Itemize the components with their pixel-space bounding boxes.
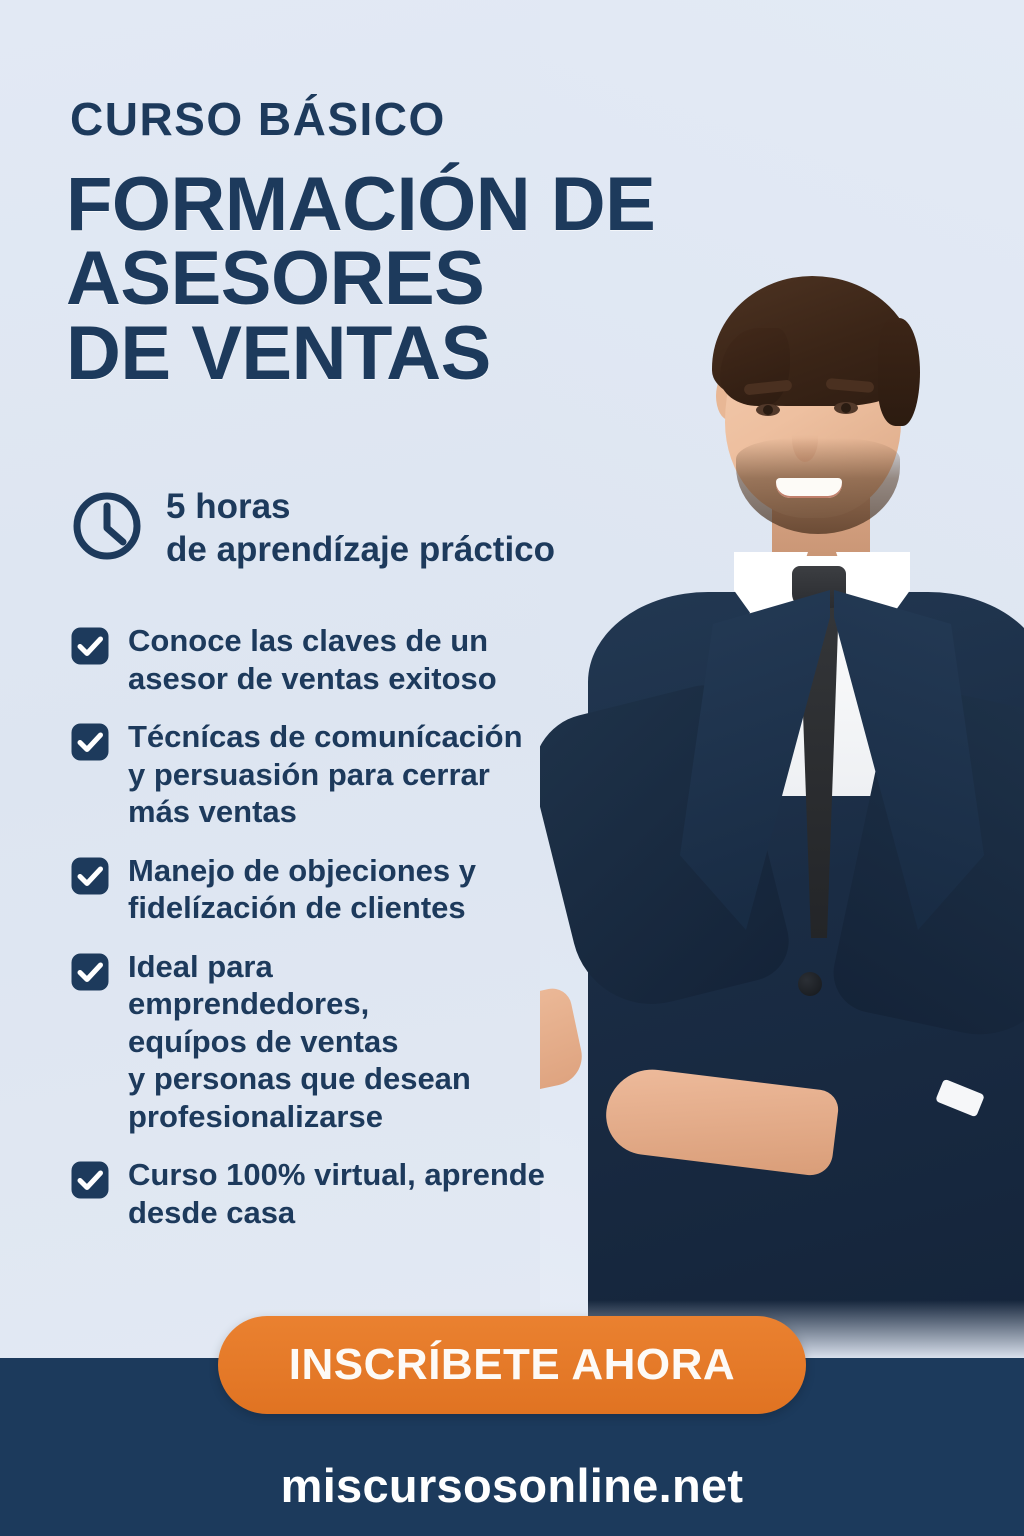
title-line-2: ASESORES (66, 242, 655, 316)
list-item: Conoce las claves de un asesor de ventas… (70, 622, 590, 697)
checkbox-checked-icon (70, 952, 110, 997)
benefit-4-line-4: y personas que desean (128, 1060, 471, 1098)
clock-icon (70, 489, 144, 568)
benefit-2-line-1: Técnícas de comunícación (128, 718, 523, 756)
page-title: FORMACIÓN DE ASESORES DE VENTAS (66, 168, 655, 391)
course-duration: 5 horas de aprendízaje práctico (70, 486, 555, 571)
list-item: Manejo de objeciones y fidelízación de c… (70, 852, 590, 927)
enroll-now-button[interactable]: INSCRÍBETE AHORA (218, 1316, 806, 1414)
benefit-2-line-3: más ventas (128, 793, 523, 831)
benefit-4-line-2: emprendedores, (128, 985, 471, 1023)
list-item: Técnícas de comunícación y persuasión pa… (70, 718, 590, 831)
benefit-3-line-2: fidelízación de clientes (128, 889, 476, 927)
checkbox-checked-icon (70, 626, 110, 671)
duration-line-1: 5 horas (166, 486, 555, 529)
title-line-3: DE VENTAS (66, 317, 655, 391)
checkbox-checked-icon (70, 722, 110, 767)
list-item-label: Técnícas de comunícación y persuasión pa… (128, 718, 523, 831)
website-url[interactable]: miscursosonline.net (0, 1458, 1024, 1513)
benefit-4-line-5: profesionalizarse (128, 1098, 471, 1136)
benefit-1-line-2: asesor de ventas exitoso (128, 660, 497, 698)
list-item-label: Conoce las claves de un asesor de ventas… (128, 622, 497, 697)
benefit-5-line-2: desde casa (128, 1194, 545, 1232)
enroll-now-label: INSCRÍBETE AHORA (289, 1340, 735, 1390)
benefit-5-line-1: Curso 100% virtual, aprende (128, 1156, 545, 1194)
list-item: Ideal para emprendedores, equípos de ven… (70, 948, 590, 1136)
course-benefits-list: Conoce las claves de un asesor de ventas… (70, 622, 590, 1252)
duration-line-2: de aprendízaje práctico (166, 529, 555, 572)
benefit-1-line-1: Conoce las claves de un (128, 622, 497, 660)
benefit-2-line-2: y persuasión para cerrar (128, 756, 523, 794)
title-line-1: FORMACIÓN DE (66, 168, 655, 242)
promo-poster: CURSO BÁSICO FORMACIÓN DE ASESORES DE VE… (0, 0, 1024, 1536)
course-level-eyebrow: CURSO BÁSICO (70, 92, 446, 146)
poster-content: CURSO BÁSICO FORMACIÓN DE ASESORES DE VE… (0, 0, 1024, 1536)
benefit-4-line-3: equípos de ventas (128, 1023, 471, 1061)
list-item-label: Ideal para emprendedores, equípos de ven… (128, 948, 471, 1136)
checkbox-checked-icon (70, 856, 110, 901)
list-item: Curso 100% virtual, aprende desde casa (70, 1156, 590, 1231)
benefit-4-line-1: Ideal para (128, 948, 471, 986)
benefit-3-line-1: Manejo de objeciones y (128, 852, 476, 890)
checkbox-checked-icon (70, 1160, 110, 1205)
duration-text: 5 horas de aprendízaje práctico (166, 486, 555, 571)
list-item-label: Manejo de objeciones y fidelízación de c… (128, 852, 476, 927)
list-item-label: Curso 100% virtual, aprende desde casa (128, 1156, 545, 1231)
